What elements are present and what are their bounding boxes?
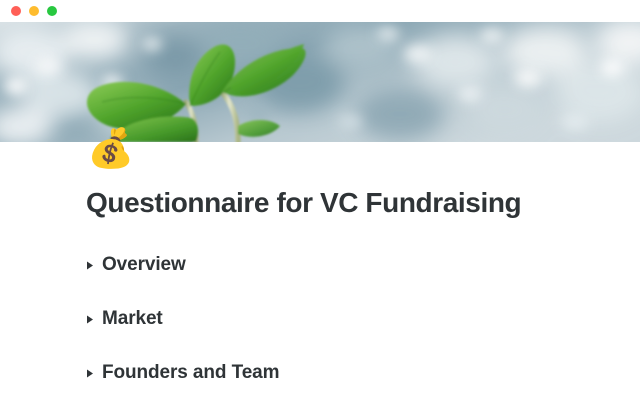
toggle-label: Overview (102, 252, 186, 278)
toggle-block-founders-and-team[interactable]: Founders and Team (86, 358, 606, 388)
page-content: 💰 Questionnaire for VC Fundraising Overv… (0, 142, 640, 400)
close-window-button[interactable] (11, 6, 21, 16)
maximize-window-button[interactable] (47, 6, 57, 16)
cover-photo (0, 22, 640, 142)
window-titlebar (0, 0, 640, 22)
chevron-right-icon[interactable] (86, 304, 102, 334)
page-cover-banner[interactable] (0, 22, 640, 142)
chevron-right-icon[interactable] (86, 358, 102, 388)
toggle-block-market[interactable]: Market (86, 304, 606, 334)
toggle-label: Market (102, 306, 163, 332)
toggle-label: Founders and Team (102, 360, 279, 386)
document-window: 💰 Questionnaire for VC Fundraising Overv… (0, 0, 640, 400)
chevron-right-icon[interactable] (86, 250, 102, 280)
toggle-block-list: Overview Market Founders and Team (86, 250, 606, 400)
minimize-window-button[interactable] (29, 6, 39, 16)
page-title[interactable]: Questionnaire for VC Fundraising (86, 186, 606, 220)
money-bag-icon[interactable]: 💰 (87, 126, 133, 172)
traffic-light-controls (11, 6, 57, 16)
toggle-block-overview[interactable]: Overview (86, 250, 606, 280)
